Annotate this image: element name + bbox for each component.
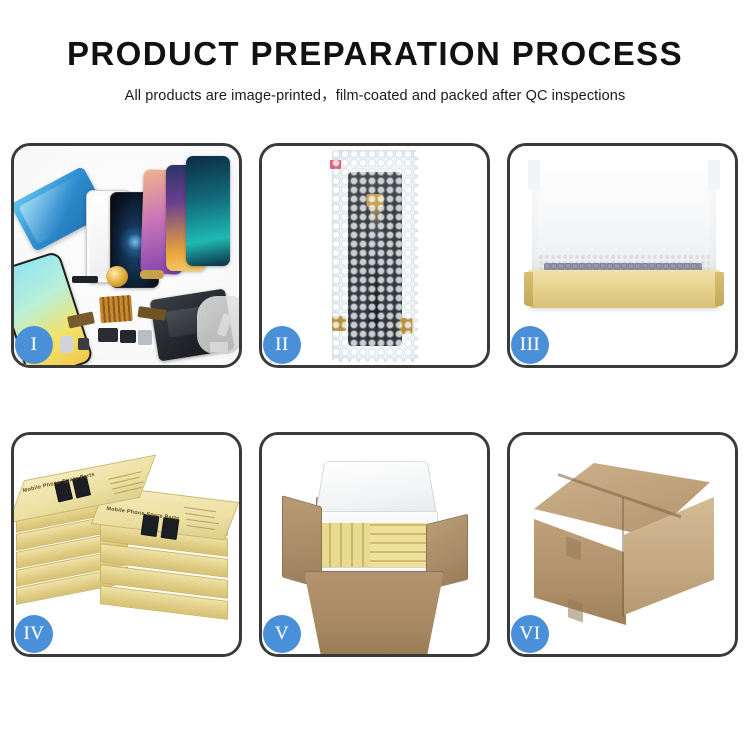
product-preparation-infographic: PRODUCT PREPARATION PROCESS All products… <box>0 0 750 750</box>
qc-red-label <box>330 160 341 169</box>
kraft-inner-box <box>528 270 720 308</box>
step-panel-1: I <box>11 143 242 368</box>
connector <box>332 316 346 331</box>
connector <box>366 194 383 207</box>
carton-front-wall <box>304 571 444 654</box>
page-title: PRODUCT PREPARATION PROCESS <box>0 37 750 70</box>
page-subtitle: All products are image-printed，film-coat… <box>0 84 750 105</box>
step-panel-3: III <box>507 143 738 368</box>
step-badge-5: V <box>263 615 301 653</box>
step-badge-6: VI <box>511 615 549 653</box>
packed-boxes <box>370 523 428 569</box>
carton-tape <box>568 598 583 622</box>
step-badge-1: I <box>15 326 53 364</box>
styrofoam-lid <box>315 461 437 515</box>
teal-gradient-phone <box>186 156 230 266</box>
flex-cable <box>368 198 381 328</box>
spare-part <box>98 328 118 342</box>
spare-part <box>120 330 136 343</box>
step-panel-2: II <box>259 143 490 368</box>
carton-corner-edge <box>622 497 624 617</box>
step-panel-5: V <box>259 432 490 657</box>
spare-part <box>138 330 152 345</box>
step-badge-2: II <box>263 326 301 364</box>
step-panel-6: VI <box>507 432 738 657</box>
step-badge-4: IV <box>15 615 53 653</box>
spare-part <box>78 338 89 350</box>
hand-holding-part <box>197 296 239 354</box>
chip-array <box>99 295 133 323</box>
gold-component <box>106 266 128 287</box>
step-badge-3: III <box>511 326 549 364</box>
connector <box>400 318 413 334</box>
steps-grid: I II III <box>11 143 739 682</box>
header: PRODUCT PREPARATION PROCESS All products… <box>0 0 750 105</box>
spare-part <box>72 276 98 283</box>
step-panel-4: Mobile Phone Spare Parts Mobile Phone Sp… <box>11 432 242 657</box>
spare-part <box>60 336 73 353</box>
spare-part <box>140 270 164 279</box>
